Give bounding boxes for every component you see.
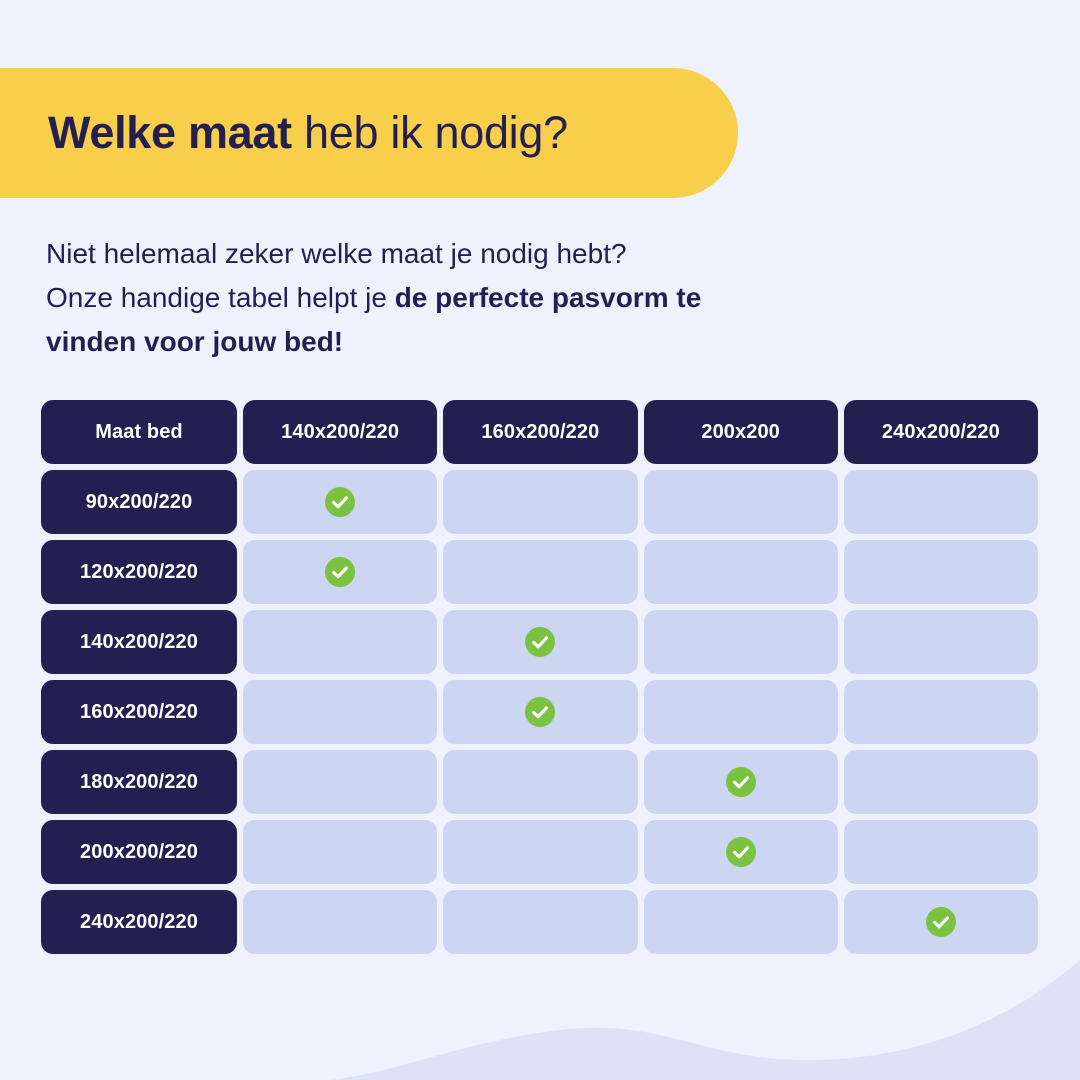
table-cell xyxy=(644,820,838,884)
table-cell xyxy=(844,470,1038,534)
table-row: 240x200/220 xyxy=(41,890,1038,954)
page-title-strong: Welke maat xyxy=(48,107,292,158)
table-row: 160x200/220 xyxy=(41,680,1038,744)
table-cell xyxy=(243,890,437,954)
table-cell xyxy=(443,680,637,744)
bed-size-table: Maat bed 140x200/220 160x200/220 200x200… xyxy=(41,400,1038,954)
column-header-240x200-220: 240x200/220 xyxy=(844,400,1038,464)
table-cell xyxy=(243,680,437,744)
row-label: 180x200/220 xyxy=(41,750,237,814)
row-label: 120x200/220 xyxy=(41,540,237,604)
table-cell xyxy=(443,820,637,884)
check-circle-icon xyxy=(525,697,555,727)
table-cell xyxy=(443,610,637,674)
table-cell xyxy=(644,890,838,954)
table-row: 140x200/220 xyxy=(41,610,1038,674)
row-label: 160x200/220 xyxy=(41,680,237,744)
column-header-200x200: 200x200 xyxy=(644,400,838,464)
table-row: 180x200/220 xyxy=(41,750,1038,814)
table-cell xyxy=(243,540,437,604)
table-cell xyxy=(443,540,637,604)
table-cell xyxy=(644,470,838,534)
check-circle-icon xyxy=(726,837,756,867)
column-header-140x200-220: 140x200/220 xyxy=(243,400,437,464)
table-cell xyxy=(644,540,838,604)
intro-line-1: Niet helemaal zeker welke maat je nodig … xyxy=(46,232,926,276)
page-title-rest: heb ik nodig? xyxy=(292,107,568,158)
intro-line-3: vinden voor jouw bed! xyxy=(46,320,926,364)
table-cell xyxy=(644,680,838,744)
intro-paragraph: Niet helemaal zeker welke maat je nodig … xyxy=(46,232,926,364)
check-circle-icon xyxy=(325,487,355,517)
check-circle-icon xyxy=(926,907,956,937)
table-row: 200x200/220 xyxy=(41,820,1038,884)
table-cell xyxy=(644,610,838,674)
intro-line-2-strong: de perfecte pasvorm te xyxy=(395,282,702,313)
check-circle-icon xyxy=(726,767,756,797)
table-cell xyxy=(243,820,437,884)
table-cell xyxy=(844,820,1038,884)
table-cell xyxy=(844,540,1038,604)
table-header-row: Maat bed 140x200/220 160x200/220 200x200… xyxy=(41,400,1038,464)
table-cell xyxy=(844,680,1038,744)
table-cell xyxy=(243,610,437,674)
page-title: Welke maat heb ik nodig? xyxy=(0,109,568,156)
table-cell xyxy=(644,750,838,814)
row-label: 200x200/220 xyxy=(41,820,237,884)
intro-line-2: Onze handige tabel helpt je de perfecte … xyxy=(46,276,926,320)
table-cell xyxy=(844,610,1038,674)
row-label: 240x200/220 xyxy=(41,890,237,954)
table-cell xyxy=(844,890,1038,954)
row-label: 90x200/220 xyxy=(41,470,237,534)
table-cell xyxy=(443,750,637,814)
check-circle-icon xyxy=(325,557,355,587)
column-header-160x200-220: 160x200/220 xyxy=(443,400,637,464)
table-cell xyxy=(443,890,637,954)
check-circle-icon xyxy=(525,627,555,657)
table-row: 90x200/220 xyxy=(41,470,1038,534)
table-row: 120x200/220 xyxy=(41,540,1038,604)
table-cell xyxy=(243,470,437,534)
row-label: 140x200/220 xyxy=(41,610,237,674)
table-cell xyxy=(844,750,1038,814)
table-cell xyxy=(243,750,437,814)
title-banner: Welke maat heb ik nodig? xyxy=(0,68,738,198)
column-header-maat-bed: Maat bed xyxy=(41,400,237,464)
bottom-wave-decoration xyxy=(0,960,1080,1080)
intro-line-2-normal: Onze handige tabel helpt je xyxy=(46,282,395,313)
table-cell xyxy=(443,470,637,534)
